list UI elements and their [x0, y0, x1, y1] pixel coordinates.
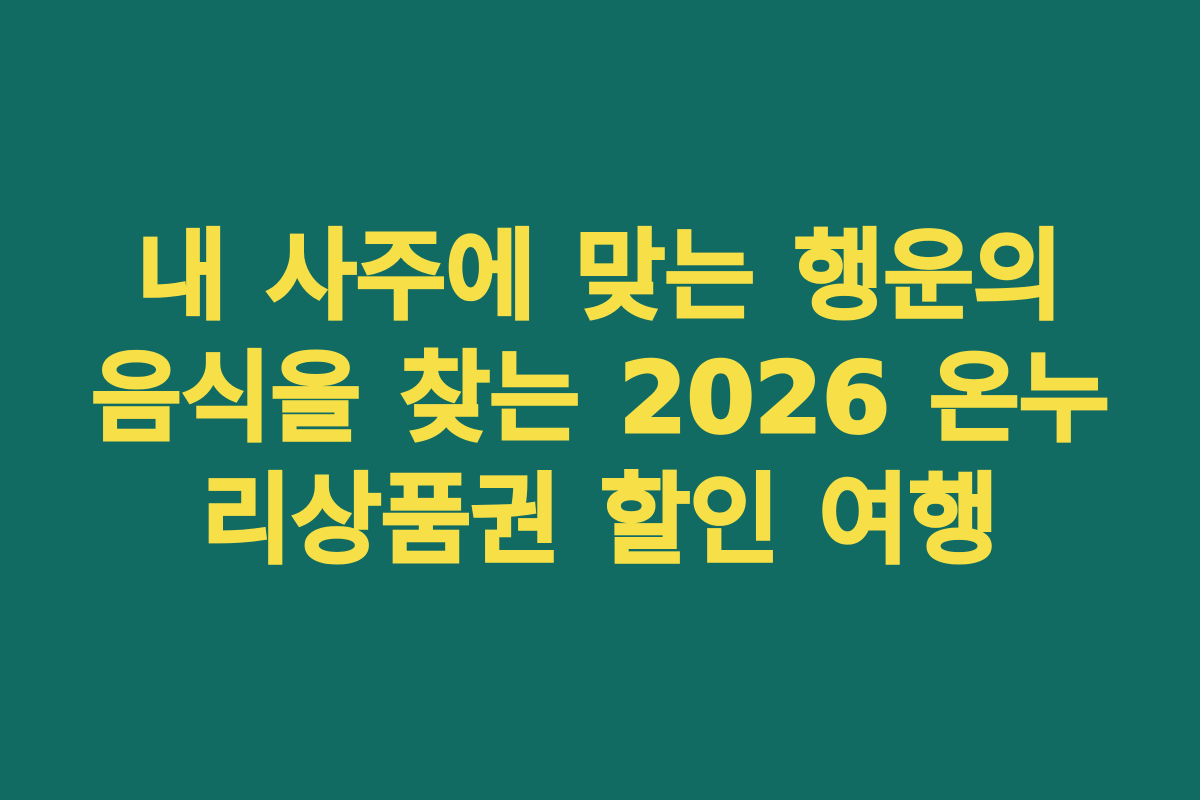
headline-line-3: 리상품권 할인 여행 — [70, 460, 1130, 582]
page-title: 내 사주에 맞는 행운의 음식을 찾는 2026 온누 리상품권 할인 여행 — [70, 216, 1130, 582]
banner-canvas: 내 사주에 맞는 행운의 음식을 찾는 2026 온누 리상품권 할인 여행 — [0, 0, 1200, 800]
headline-line-1: 내 사주에 맞는 행운의 — [70, 216, 1130, 338]
headline-line-2: 음식을 찾는 2026 온누 — [70, 338, 1130, 460]
